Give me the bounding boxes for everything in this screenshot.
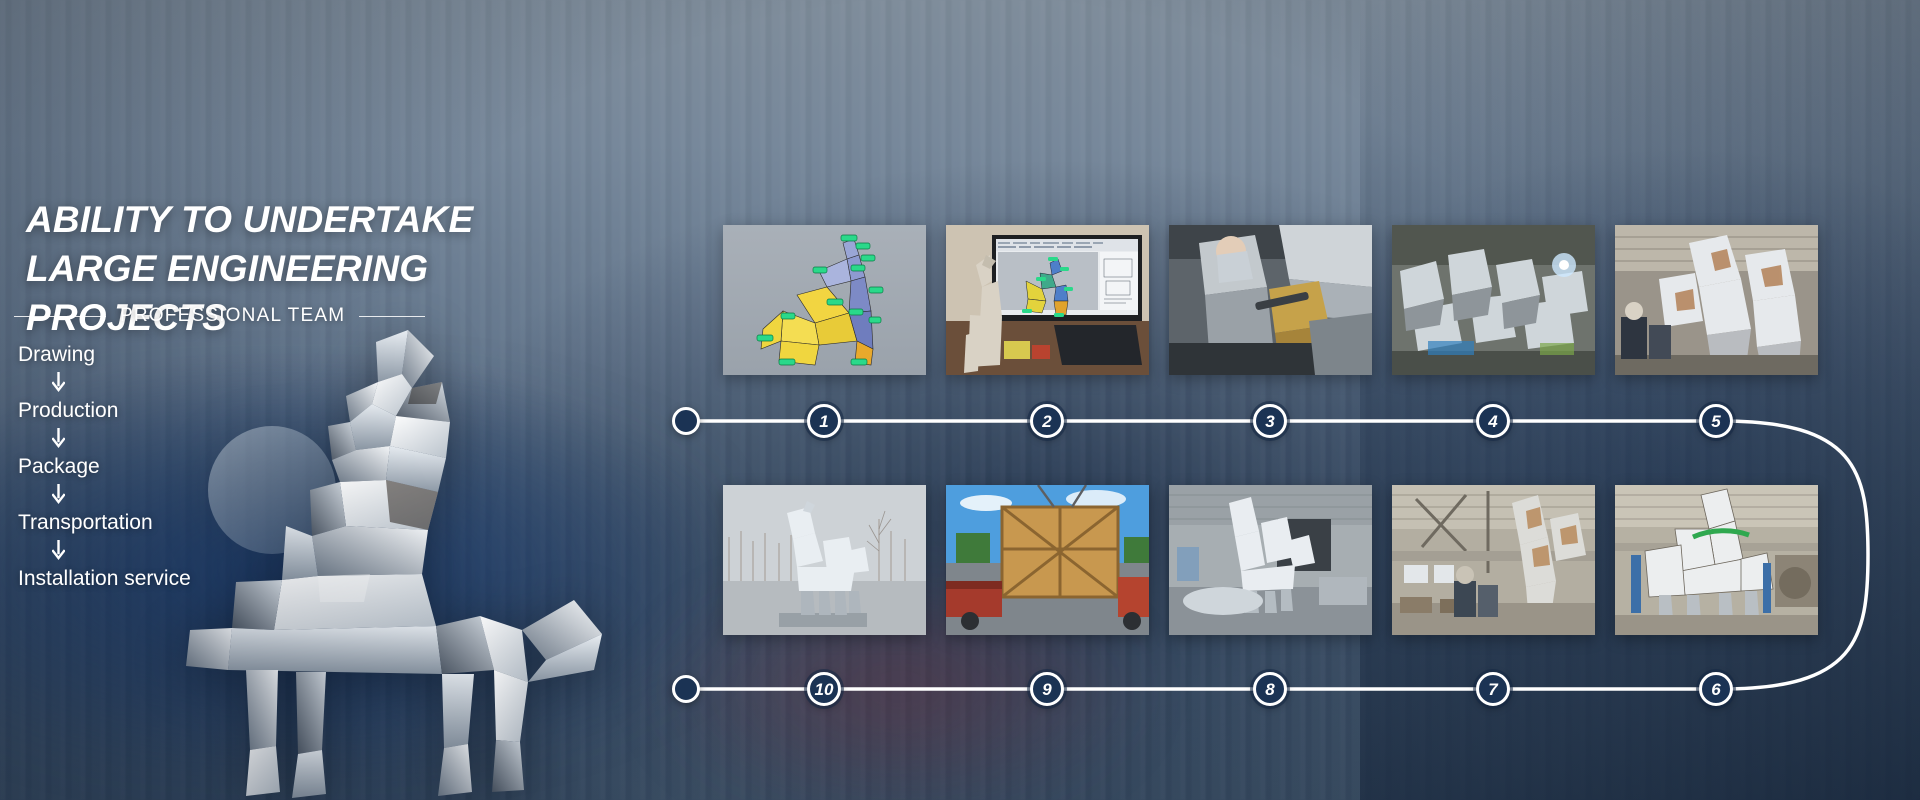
timeline-node-5[interactable]: 5 [1699,404,1733,438]
timeline-start-node-bottom[interactable] [672,675,700,703]
gallery-tile-7[interactable]: Workers fitting panels onto the wolf arm… [1392,485,1595,635]
photo-crate-loading [946,485,1149,635]
down-arrow-icon [18,425,98,452]
gallery-tile-4[interactable]: Welding and shaping steel panels on the … [1392,225,1595,375]
process-step-transportation: Transportation [18,508,348,537]
gallery-tile-3[interactable]: Worker hammer-forming a stainless steel … [1169,225,1372,375]
photo-warehouse-ready [1169,485,1372,635]
process-step-production: Production [18,396,348,425]
timeline-node-1[interactable]: 1 [807,404,841,438]
subtitle-rule-left [14,316,106,317]
timeline-node-8[interactable]: 8 [1253,672,1287,706]
photo-frame-strapped [1615,485,1818,635]
process-step-installation: Installation service [18,564,348,593]
gallery-tile-2[interactable]: Designer monitor showing CAD model besid… [946,225,1149,375]
down-arrow-icon [18,481,98,508]
timeline-node-9[interactable]: 9 [1030,672,1064,706]
subtitle-rule-right [359,316,425,317]
timeline-node-10[interactable]: 10 [807,672,841,706]
timeline-node-7[interactable]: 7 [1476,672,1510,706]
gallery-tile-6[interactable]: Partially clad wolf frame with green ref… [1615,485,1818,635]
gallery-tile-9[interactable]: Crated sculpture being loaded onto a tru… [946,485,1149,635]
gallery-tile-10[interactable]: Finished mirror-polished wolf sculpture … [723,485,926,635]
subtitle-row: PROFESSIONAL TEAM [14,305,414,327]
headline-line-1: ABILITY TO UNDERTAKE [26,199,473,240]
timeline-node-4[interactable]: 4 [1476,404,1510,438]
headline-line-2: LARGE ENGINEERING PROJECTS [26,245,606,343]
photo-workshop-floor [1392,225,1595,375]
process-step-drawing: Drawing [18,340,348,369]
gallery-tile-8[interactable]: Completed polished sculpture in the ware… [1169,485,1372,635]
hero-banner: ABILITY TO UNDERTAKE LARGE ENGINEERING P… [0,0,1920,800]
photo-panel-fitting [1392,485,1595,635]
process-step-package: Package [18,452,348,481]
timeline-node-6[interactable]: 6 [1699,672,1733,706]
timeline-node-3[interactable]: 3 [1253,404,1287,438]
gallery-tile-1[interactable]: 3D CAD mesh model of wolf sculpture with… [723,225,926,375]
subtitle-text: PROFESSIONAL TEAM [120,305,345,327]
gallery-tile-5[interactable]: Craftsmen assembling the faceted stainle… [1615,225,1818,375]
photo-assembly [1615,225,1818,375]
process-step-list: Drawing Production Package Transportatio… [18,340,348,593]
timeline-node-2[interactable]: 2 [1030,404,1064,438]
down-arrow-icon [18,537,98,564]
photo-cad-workstation [946,225,1149,375]
photo-installed-outdoor [723,485,926,635]
timeline-start-node-top[interactable] [672,407,700,435]
down-arrow-icon [18,369,98,396]
photo-metal-forming [1169,225,1372,375]
photo-cad-mesh [723,225,926,375]
